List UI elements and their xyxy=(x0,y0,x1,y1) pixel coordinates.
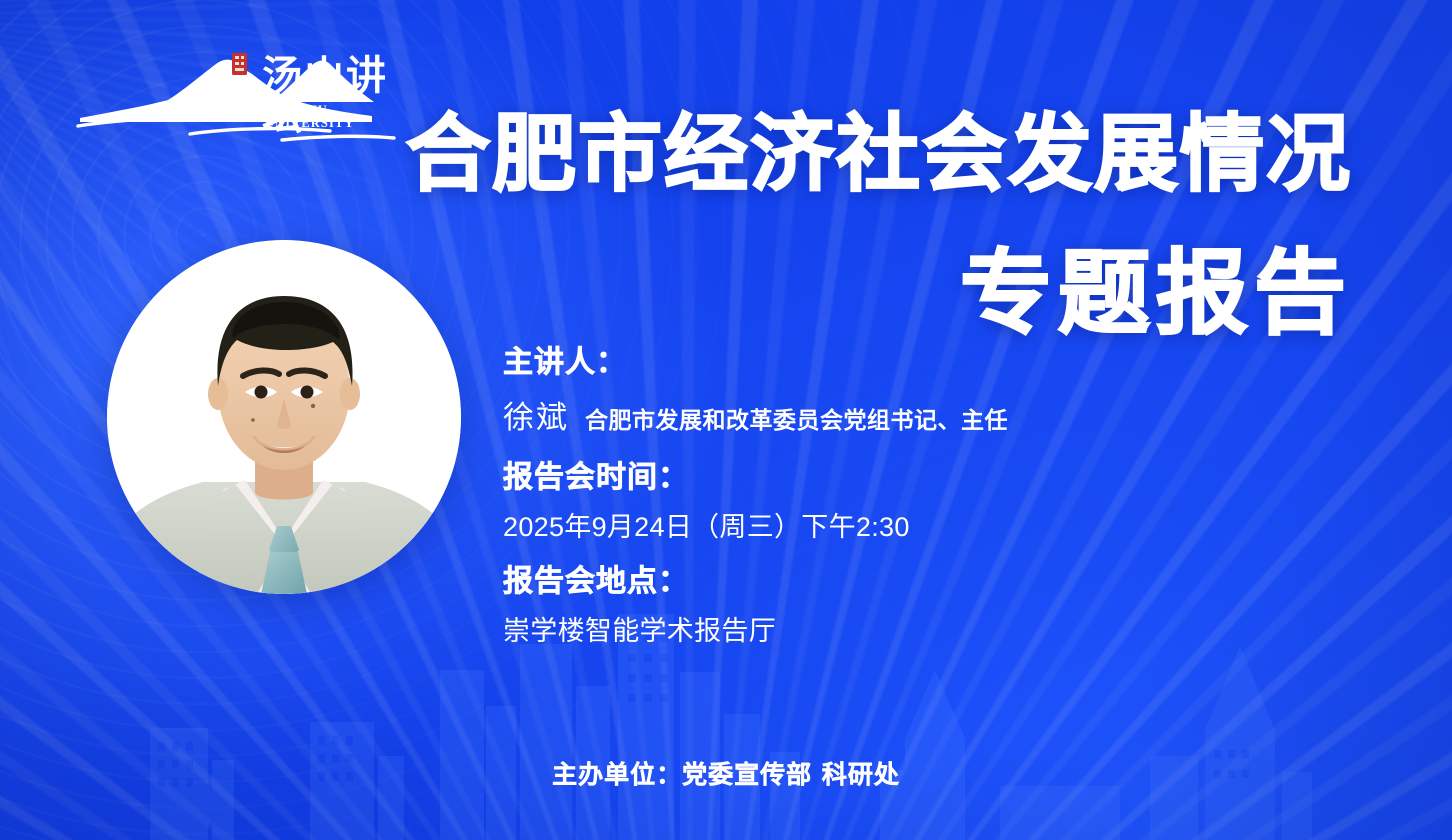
headline-line-2: 专题报告 xyxy=(406,248,1352,340)
time-label: 报告会时间： xyxy=(503,463,1263,493)
event-poster: 汤山讲坛 CHAOHU UNIVERSITY 合肥市经济社会发展情况 专题报告 xyxy=(0,0,1452,840)
poster-footer: 主办单位：党委宣传部 科研处 xyxy=(0,755,1452,791)
speaker-title: 合肥市发展和改革委员会党组书记、主任 xyxy=(585,409,1008,432)
speaker-label: 主讲人： xyxy=(503,348,1263,378)
place-label: 报告会地点： xyxy=(503,567,1263,597)
speaker-name: 徐斌 xyxy=(503,402,569,433)
poster-headline: 合肥市经济社会发展情况 专题报告 xyxy=(406,112,1352,340)
speaker-portrait xyxy=(107,240,461,594)
red-seal-icon xyxy=(232,53,247,75)
headline-line-1: 合肥市经济社会发展情况 xyxy=(406,112,1352,196)
portrait-illustration xyxy=(107,240,461,594)
logo-name-en: CHAOHU UNIVERSITY xyxy=(265,104,412,129)
organizer-text: 主办单位：党委宣传部 科研处 xyxy=(552,760,900,789)
time-value: 2025年9月24日（周三）下午2:30 xyxy=(503,514,1263,541)
place-value: 崇学楼智能学术报告厅 xyxy=(503,618,1263,645)
chaohu-university-logo[interactable]: 汤山讲坛 CHAOHU UNIVERSITY xyxy=(72,50,412,142)
speaker-row: 徐斌 合肥市发展和改革委员会党组书记、主任 xyxy=(503,402,1263,433)
event-details: 主讲人： 徐斌 合肥市发展和改革委员会党组书记、主任 报告会时间： 2025年9… xyxy=(503,348,1263,645)
